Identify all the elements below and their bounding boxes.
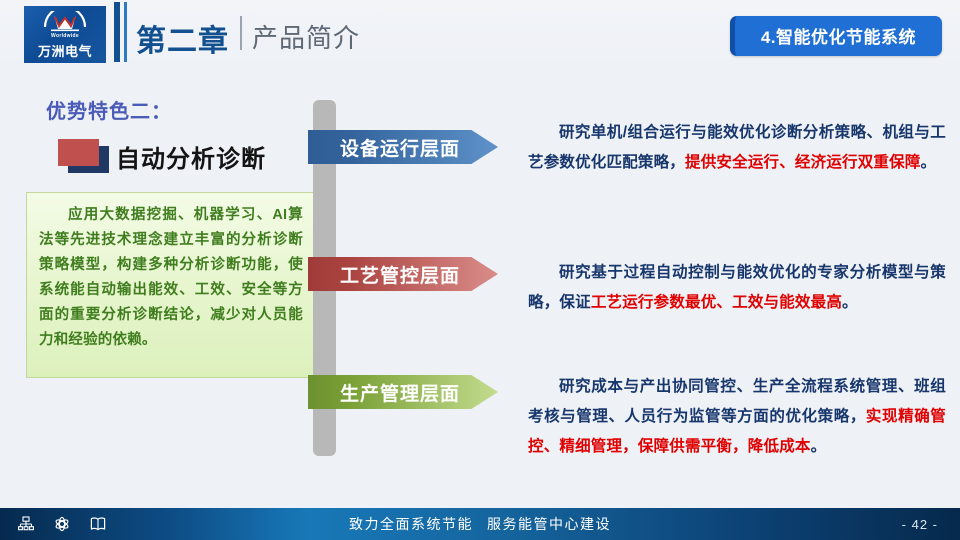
feature-name: 自动分析诊断 [116,139,266,174]
paragraph-text-tail: 。 [842,294,858,311]
layer-paragraph-equipment: 研究单机/组合运行与能效优化诊断分析策略、机组与工艺参数优化匹配策略，提供安全运… [528,118,946,178]
chapter-separator [240,16,242,50]
footer-slogan-right: 服务能管中心建设 [487,516,611,532]
slide-header: Worldwide 万洲电气 第二章 产品简介 4.智能优化节能系统 [0,0,960,72]
description-callout-text: 应用大数据挖掘、机器学习、AI算法等先进技术理念建立丰富的分析诊断策略模型，构建… [39,203,303,353]
description-callout-box: 应用大数据挖掘、机器学习、AI算法等先进技术理念建立丰富的分析诊断策略模型，构建… [26,192,316,378]
paragraph-text-tail: 。 [921,154,937,171]
layer-arrow-process: 工艺管控层面 [308,257,498,291]
layer-arrow-label: 生产管理层面 [340,379,460,406]
footer-slogan: 致力全面系统节能服务能管中心建设 [0,514,960,534]
chapter-title: 第二章 [136,16,229,60]
slide-footer: 致力全面系统节能服务能管中心建设 - 42 - [0,508,960,540]
layer-arrow-label: 设备运行层面 [340,134,460,161]
marker-square-red [58,139,99,166]
paragraph-text-tail: 。 [811,438,827,455]
header-divider-thick [114,2,120,62]
logo-chinese-text: 万洲电气 [38,41,92,60]
section-badge: 4.智能优化节能系统 [730,16,942,56]
company-logo: Worldwide 万洲电气 [24,6,106,63]
paragraph-text-highlight: 提供安全运行、经济运行双重保障 [685,154,921,171]
w-crown-icon [41,11,89,33]
layer-arrow-label: 工艺管控层面 [340,261,460,288]
chapter-subtitle: 产品简介 [252,18,360,55]
page-number: - 42 - [902,517,938,532]
header-divider-thin [124,2,127,62]
layer-arrow-production: 生产管理层面 [308,375,498,409]
slide-root: Worldwide 万洲电气 第二章 产品简介 4.智能优化节能系统 优势特色二… [0,0,960,540]
advantage-title: 优势特色二： [46,95,172,124]
layer-arrow-equipment: 设备运行层面 [308,130,498,164]
layer-paragraph-production: 研究成本与产出协同管控、生产全流程系统管理、班组考核与管理、人员行为监管等方面的… [528,372,946,462]
paragraph-text-highlight: 工艺运行参数最优、工效与能效最高 [591,294,842,311]
layer-paragraph-process: 研究基于过程自动控制与能效优化的专家分析模型与策略，保证工艺运行参数最优、工效与… [528,258,946,318]
logo-english-text: Worldwide [51,33,79,39]
footer-slogan-left: 致力全面系统节能 [349,516,473,532]
